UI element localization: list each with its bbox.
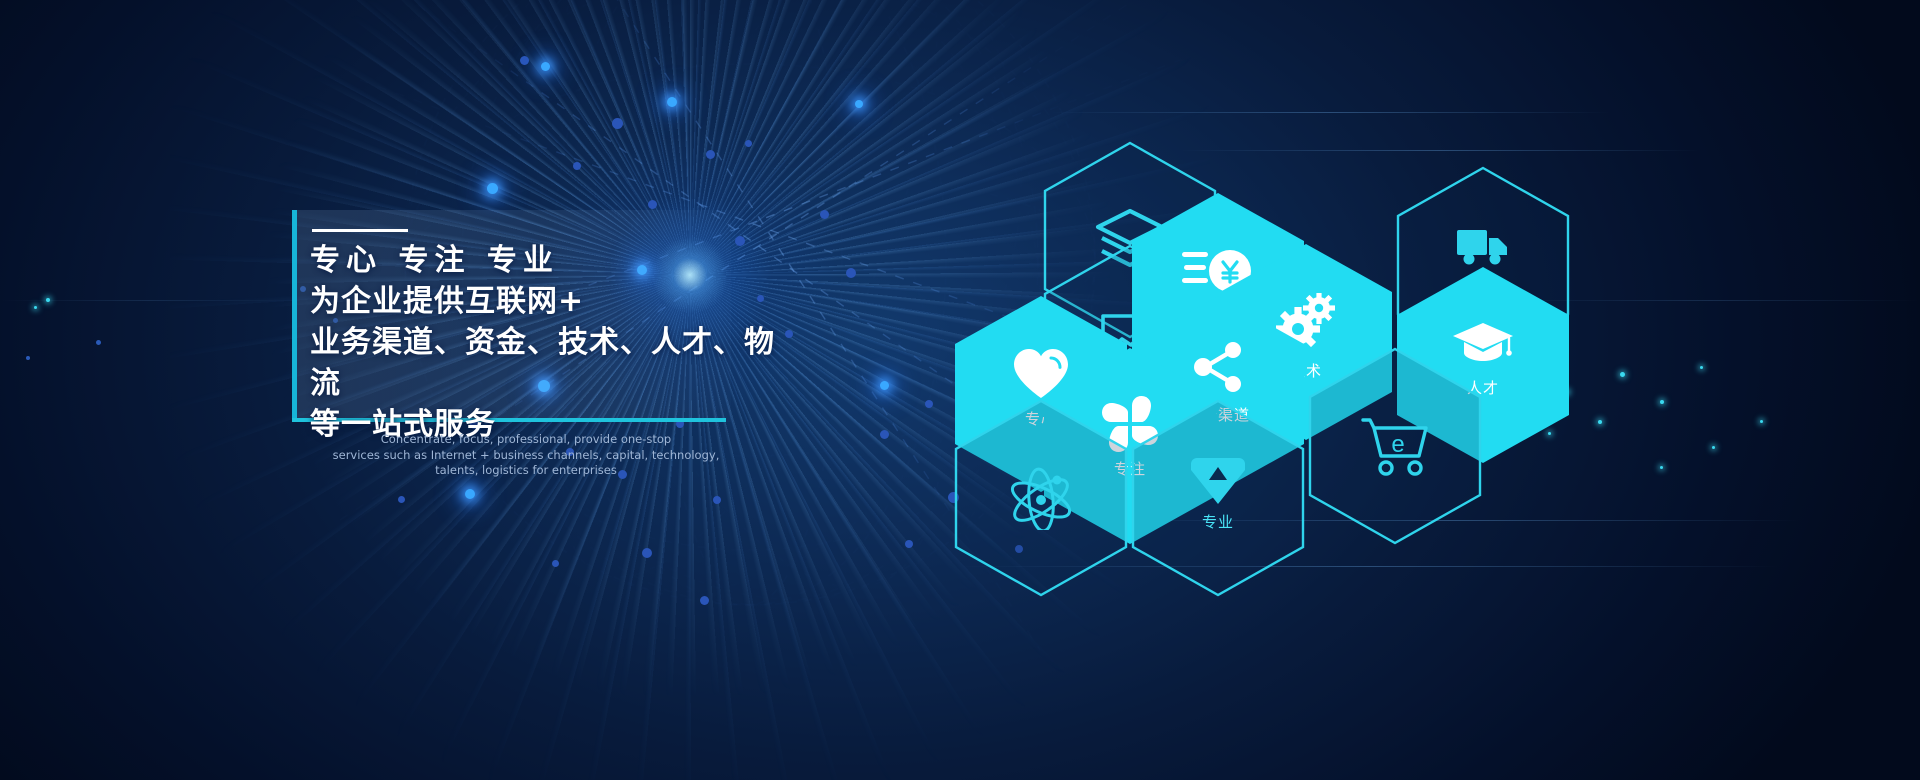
subtitle-line-3: talents, logistics for enterprises [296,463,756,479]
headline-line-3: 业务渠道、资金、技术、人才、物流 [310,322,780,404]
hexagon-atom[interactable] [953,398,1129,598]
hexagon-label: 专业 [1130,511,1306,532]
subtitle-line-2: services such as Internet + business cha… [296,448,756,464]
headline-line-1: 专心 专注 专业 [310,240,780,281]
subtitle-line-1: Concentrate, focus, professional, provid… [296,432,756,448]
headline-line-2: 为企业提供互联网+ [310,281,780,322]
diamond-icon [1130,450,1306,510]
shopping-cart-e-icon: e [1307,408,1483,484]
page-title: 专心 专注 专业 为企业提供互联网+ 业务渠道、资金、技术、人才、物流 等一站式… [310,240,780,445]
banner-stage: 专心 专注 专业 为企业提供互联网+ 业务渠道、资金、技术、人才、物流 等一站式… [0,0,1920,780]
hexagon-ecommerce[interactable]: e [1307,346,1483,546]
headline-rule [312,229,408,232]
subtitle: Concentrate, focus, professional, provid… [296,432,756,479]
hexagon-pro[interactable]: 专业 [1130,398,1306,598]
atom-icon [953,460,1129,536]
svg-text:e: e [1391,431,1404,458]
